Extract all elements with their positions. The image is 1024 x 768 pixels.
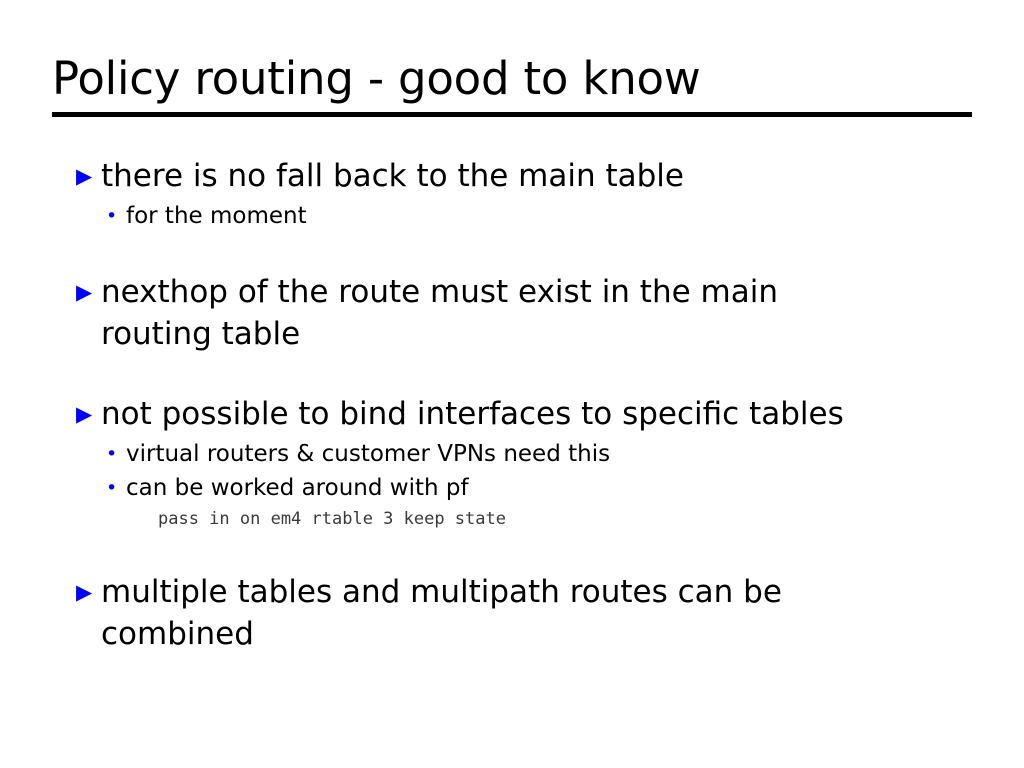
triangle-bullet-icon: ▶ [74,571,101,613]
bullet-text: not possible to bind interfaces to speci… [101,393,891,435]
slide-content: ▶ there is no fall back to the main tabl… [74,155,974,657]
bullet-text: there is no fall back to the main table [101,155,891,197]
bullet-text: nexthop of the route must exist in the m… [101,271,891,355]
title-divider [52,112,972,117]
bullet-item: ▶ not possible to bind interfaces to spe… [74,393,974,435]
sub-bullet-item: • virtual routers & customer VPNs need t… [106,437,974,471]
sub-bullet-text: virtual routers & customer VPNs need thi… [126,437,974,471]
dot-bullet-icon: • [106,199,126,233]
sub-bullet-item: • for the moment [106,199,974,233]
bullet-group: ▶ not possible to bind interfaces to spe… [74,393,974,533]
page-title: Policy routing - good to know [52,52,972,106]
triangle-bullet-icon: ▶ [74,155,101,197]
triangle-bullet-icon: ▶ [74,271,101,313]
bullet-group: ▶ there is no fall back to the main tabl… [74,155,974,233]
triangle-bullet-icon: ▶ [74,393,101,435]
bullet-group: ▶ nexthop of the route must exist in the… [74,271,974,355]
sub-bullet-text: for the moment [126,199,974,233]
slide-title-block: Policy routing - good to know [52,52,972,117]
dot-bullet-icon: • [106,437,126,471]
bullet-item: ▶ multiple tables and multipath routes c… [74,571,974,655]
dot-bullet-icon: • [106,471,126,505]
bullet-group: ▶ multiple tables and multipath routes c… [74,571,974,655]
presentation-slide: Policy routing - good to know ▶ there is… [0,0,1024,768]
code-snippet: pass in on em4 rtable 3 keep state [158,505,974,533]
bullet-text: multiple tables and multipath routes can… [101,571,891,655]
sub-bullet-text: can be worked around with pf [126,471,974,505]
sub-bullet-item: • can be worked around with pf [106,471,974,505]
bullet-item: ▶ there is no fall back to the main tabl… [74,155,974,197]
bullet-item: ▶ nexthop of the route must exist in the… [74,271,974,355]
